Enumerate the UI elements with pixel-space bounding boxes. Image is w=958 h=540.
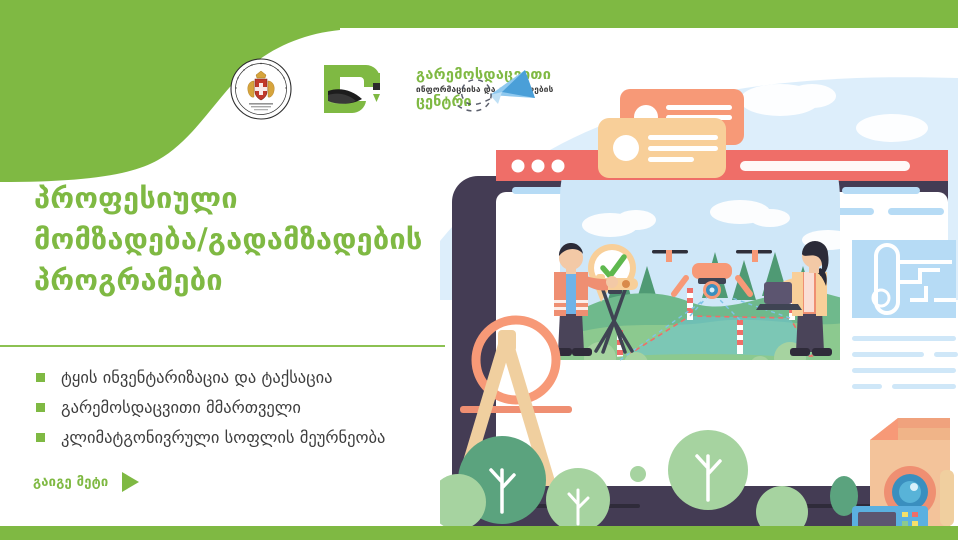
list-item: ტყის ინვენტარიზაცია და ტაქსაცია xyxy=(36,362,506,392)
play-triangle-icon xyxy=(122,472,139,492)
open-book-logo-icon xyxy=(318,61,390,117)
bottom-green-band xyxy=(0,526,958,540)
notification-card-bottom xyxy=(598,118,726,178)
bullet-square-icon xyxy=(36,433,45,442)
title-line-3: პროგრამები xyxy=(34,260,504,301)
land-surveying-illustration xyxy=(440,0,958,540)
program-list: ტყის ინვენტარიზაცია და ტაქსაცია გარემოსდ… xyxy=(36,362,506,452)
bullet-square-icon xyxy=(36,373,45,382)
divider-rule xyxy=(0,345,445,347)
list-item: გარემოსდაცვითი მმართველი xyxy=(36,392,506,422)
learn-more-button[interactable]: გაიგე მეტი xyxy=(33,472,139,492)
list-item-label: ტყის ინვენტარიზაცია და ტაქსაცია xyxy=(61,368,333,387)
list-item-label: გარემოსდაცვითი მმართველი xyxy=(61,398,301,417)
paper-plane-icon xyxy=(456,70,535,111)
page-title: პროფესიული მომზადება/გადამზადების პროგრა… xyxy=(34,178,504,302)
learn-more-label: გაიგე მეტი xyxy=(33,475,108,490)
bullet-square-icon xyxy=(36,403,45,412)
slide-canvas: გარემოსდაცვითი ინფორმაციისა და განათლები… xyxy=(0,0,958,540)
blueprint-document-icon xyxy=(852,240,956,318)
list-item: კლიმატგონივრული სოფლის მეურნეობა xyxy=(36,422,506,452)
list-item-label: კლიმატგონივრული სოფლის მეურნეობა xyxy=(61,428,385,447)
title-line-1: პროფესიული xyxy=(34,178,504,219)
title-line-2: მომზადება/გადამზადების xyxy=(34,219,504,260)
georgia-coat-of-arms-icon xyxy=(230,58,292,120)
